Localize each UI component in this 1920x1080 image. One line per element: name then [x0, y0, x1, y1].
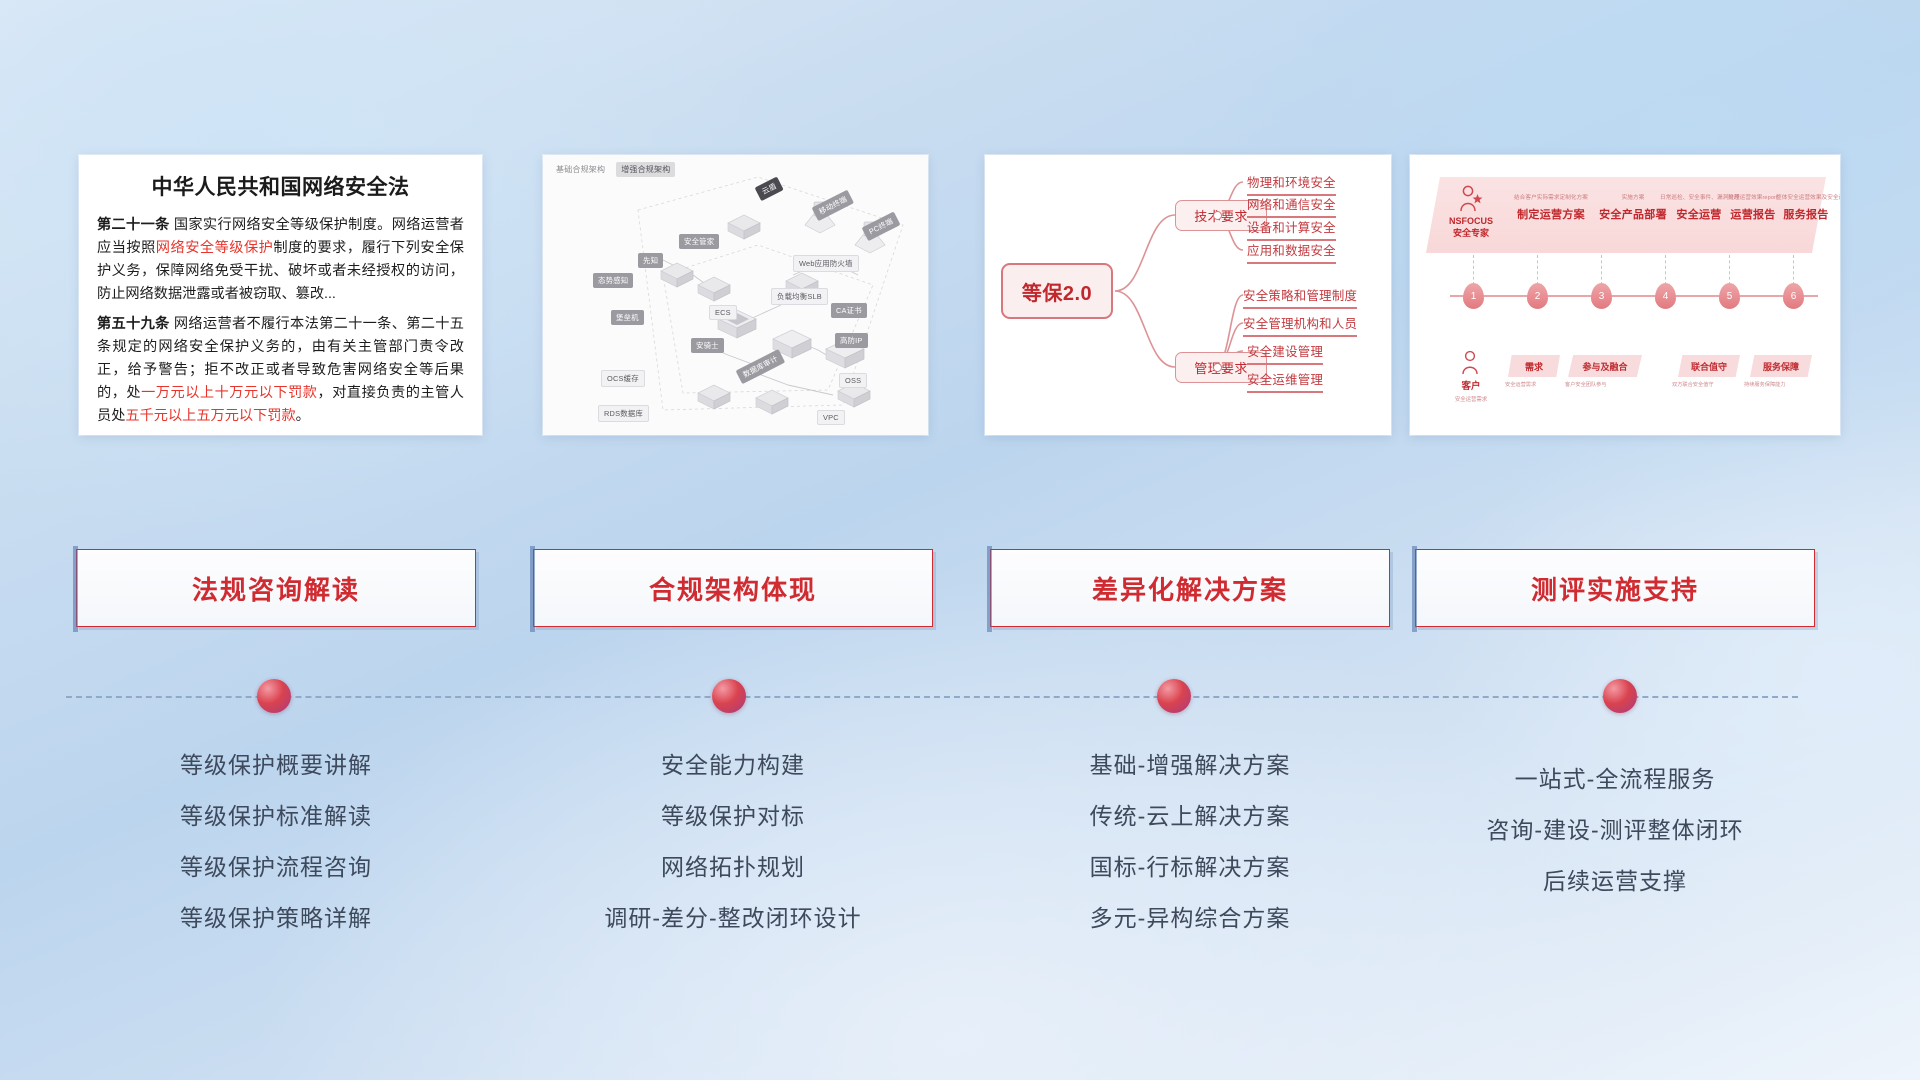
law-document: 中华人民共和国网络安全法 第二十一条 国家实行网络安全等级保护制度。网络运营者应…: [79, 155, 482, 435]
timeline-step-2: 实施方案 安全产品部署: [1596, 193, 1670, 222]
tag-joint-duty-sub: 双方联合安全值守: [1672, 381, 1714, 388]
timeline-step-5: 整体安全运营效果及安全运营效果 服务报告: [1776, 193, 1836, 222]
step-2-main: 安全产品部署: [1596, 206, 1670, 222]
node-label-oss: OSS: [839, 373, 867, 388]
node-label-bastion-host: 堡垒机: [611, 310, 644, 325]
customer-title: 客户: [1436, 378, 1506, 392]
card-mindmap-dengbao[interactable]: 等保2.0 技术要求 物理和环境安全 网络和通信安全 设备和计算安全 应用和数据…: [985, 155, 1391, 435]
step-1-main: 制定运营方案: [1512, 206, 1590, 222]
timeline-drop-1: [1473, 255, 1474, 285]
step-5-sub: 整体安全运营效果及安全运营效果: [1776, 193, 1836, 201]
node-label-ecs: ECS: [709, 305, 737, 320]
node-label-ca-cert: CA证书: [831, 303, 867, 318]
rail-node-3: [1157, 679, 1191, 713]
section-header-compliance-architecture[interactable]: 合规架构体现: [533, 549, 933, 627]
node-label-anqishi: 安骑士: [691, 338, 724, 353]
customer-person-icon: [1459, 350, 1483, 376]
list-item: 等级保护策略详解: [76, 893, 476, 944]
timeline-marker-4: 4: [1655, 283, 1676, 309]
mindmap: 等保2.0 技术要求 物理和环境安全 网络和通信安全 设备和计算安全 应用和数据…: [985, 155, 1391, 435]
article-21-highlight: 网络安全等级保护: [156, 240, 274, 256]
list-item: 等级保护概要讲解: [76, 740, 476, 791]
mindmap-leaf-ops-mgmt: 安全运维管理: [1247, 370, 1323, 393]
tag-service-guarantee: 服务保障: [1750, 355, 1812, 377]
feature-list-4: 一站式-全流程服务 咨询-建设-测评整体闭环 后续运营支撑: [1415, 754, 1815, 907]
node-label-security-butler: 安全管家: [679, 234, 719, 249]
article-21-label: 第二十一条: [97, 217, 170, 233]
tag-joint-duty: 联合值守: [1678, 355, 1740, 377]
feature-list-2: 安全能力构建 等级保护对标 网络拓扑规划 调研-差分-整改闭环设计: [533, 740, 933, 944]
article-59-highlight-2: 五千元以上五万元以下罚款: [125, 408, 295, 424]
mindmap-leaf-physical-env: 物理和环境安全: [1247, 173, 1336, 196]
article-59-highlight-1: 一万元以上十万元以下罚款: [141, 385, 317, 401]
list-item: 等级保护标准解读: [76, 791, 476, 842]
article-59-label: 第五十九条: [97, 316, 170, 332]
step-1-sub: 结合客户实际需求定制化方案: [1512, 193, 1590, 201]
list-item: 基础-增强解决方案: [990, 740, 1390, 791]
section-header-assessment-support[interactable]: 测评实施支持: [1415, 549, 1815, 627]
timeline-step-4: 阶段运营效果report 运营报告: [1722, 193, 1784, 222]
list-item: 等级保护流程咨询: [76, 842, 476, 893]
mindmap-leaf-construction-mgmt: 安全建设管理: [1247, 342, 1323, 365]
list-item: 网络拓扑规划: [533, 842, 933, 893]
list-item: 传统-云上解决方案: [990, 791, 1390, 842]
timeline-rail: [1450, 295, 1818, 297]
timeline-drop-6: [1793, 255, 1794, 285]
customer-sub: 安全运营需求: [1436, 395, 1506, 403]
tag-service-guarantee-sub: 持续服务保障能力: [1744, 381, 1786, 388]
tag-requirement-sub: 安全运营需求: [1505, 381, 1536, 388]
timeline-marker-5: 5: [1719, 283, 1740, 309]
mindmap-dot-management: [1213, 363, 1222, 372]
timeline-marker-1: 1: [1463, 283, 1484, 309]
poster-root: 中华人民共和国网络安全法 第二十一条 国家实行网络安全等级保护制度。网络运营者应…: [0, 0, 1920, 1080]
expert-role: 安全专家: [1440, 227, 1502, 239]
architecture-diagram: 基础合规架构 增强合规架构: [543, 155, 928, 435]
rail-node-1: [257, 679, 291, 713]
tag-participation-sub: 客户安全团队参与: [1565, 381, 1607, 388]
list-item: 多元-异构综合方案: [990, 893, 1390, 944]
header-label-2: 合规架构体现: [649, 570, 817, 607]
rail-node-2: [712, 679, 746, 713]
timeline-drop-2: [1537, 255, 1538, 285]
timeline-marker-3: 3: [1591, 283, 1612, 309]
law-title: 中华人民共和国网络安全法: [97, 171, 464, 201]
card-cloud-architecture[interactable]: 基础合规架构 增强合规架构: [543, 155, 928, 435]
article-59-text-c: 。: [296, 408, 310, 424]
node-label-waf: Web应用防火墙: [793, 255, 859, 272]
image-card-row: 中华人民共和国网络安全法 第二十一条 国家实行网络安全等级保护制度。网络运营者应…: [0, 0, 1920, 420]
timeline-drop-5: [1729, 255, 1730, 285]
timeline-rail-dashed: [66, 696, 1798, 698]
header-label-3: 差异化解决方案: [1092, 570, 1288, 607]
timeline-marker-2: 2: [1527, 283, 1548, 309]
mindmap-leaf-device-compute: 设备和计算安全: [1247, 218, 1336, 241]
timeline-marker-6: 6: [1783, 283, 1804, 309]
tag-participation: 参与及融合: [1568, 355, 1642, 377]
mindmap-dot-technical: [1213, 211, 1222, 220]
feature-list-3: 基础-增强解决方案 传统-云上解决方案 国标-行标解决方案 多元-异构综合方案: [990, 740, 1390, 944]
node-label-slb: 负载均衡SLB: [771, 288, 828, 305]
node-label-anti-ddos: 高防IP: [835, 333, 868, 348]
list-item: 咨询-建设-测评整体闭环: [1415, 805, 1815, 856]
timeline-drop-4: [1665, 255, 1666, 285]
section-header-regulation-consulting[interactable]: 法规咨询解读: [76, 549, 476, 627]
tag-requirement: 需求: [1508, 355, 1560, 377]
list-item: 调研-差分-整改闭环设计: [533, 893, 933, 944]
expert-person-icon: [1458, 185, 1484, 215]
card-cybersecurity-law[interactable]: 中华人民共和国网络安全法 第二十一条 国家实行网络安全等级保护制度。网络运营者应…: [79, 155, 482, 435]
node-label-xianzhi: 先知: [638, 253, 663, 268]
mindmap-leaf-app-data: 应用和数据安全: [1247, 241, 1336, 264]
node-label-vpc: VPC: [817, 410, 845, 425]
customer-block: 客户 安全运营需求: [1436, 350, 1506, 403]
timeline-step-1: 结合客户实际需求定制化方案 制定运营方案: [1512, 193, 1590, 222]
step-5-main: 服务报告: [1776, 206, 1836, 222]
mindmap-leaf-network-comm: 网络和通信安全: [1247, 195, 1336, 218]
feature-list-1: 等级保护概要讲解 等级保护标准解读 等级保护流程咨询 等级保护策略详解: [76, 740, 476, 944]
service-timeline: NSFOCUS 安全专家 结合客户实际需求定制化方案 制定运营方案 实施方案 安…: [1410, 155, 1840, 435]
step-2-sub: 实施方案: [1596, 193, 1670, 201]
list-item: 国标-行标解决方案: [990, 842, 1390, 893]
law-article-21: 第二十一条 国家实行网络安全等级保护制度。网络运营者应当按照网络安全等级保护制度…: [97, 214, 464, 306]
section-header-differentiated-solution[interactable]: 差异化解决方案: [990, 549, 1390, 627]
mindmap-leaf-org-personnel: 安全管理机构和人员: [1243, 314, 1357, 337]
node-label-rds: RDS数据库: [598, 405, 649, 422]
header-label-4: 测评实施支持: [1531, 570, 1699, 607]
list-item: 等级保护对标: [533, 791, 933, 842]
node-label-situational-awareness: 态势感知: [593, 273, 633, 288]
list-item: 一站式-全流程服务: [1415, 754, 1815, 805]
expert-brand: NSFOCUS: [1440, 215, 1502, 227]
list-item: 安全能力构建: [533, 740, 933, 791]
step-4-main: 运营报告: [1722, 206, 1784, 222]
mindmap-root: 等保2.0: [1001, 263, 1113, 319]
list-item: 后续运营支撑: [1415, 856, 1815, 907]
mindmap-leaf-policy-system: 安全策略和管理制度: [1243, 286, 1357, 309]
expert-block: NSFOCUS 安全专家: [1440, 185, 1502, 239]
card-nsfocus-timeline[interactable]: NSFOCUS 安全专家 结合客户实际需求定制化方案 制定运营方案 实施方案 安…: [1410, 155, 1840, 435]
header-label-1: 法规咨询解读: [192, 570, 360, 607]
law-article-59: 第五十九条 网络运营者不履行本法第二十一条、第二十五条规定的网络安全保护义务的，…: [97, 313, 464, 428]
architecture-connectors: [543, 155, 928, 435]
timeline-drop-3: [1601, 255, 1602, 285]
step-4-sub: 阶段运营效果report: [1722, 193, 1784, 201]
rail-node-4: [1603, 679, 1637, 713]
node-label-ocs-cache: OCS缓存: [601, 370, 645, 387]
